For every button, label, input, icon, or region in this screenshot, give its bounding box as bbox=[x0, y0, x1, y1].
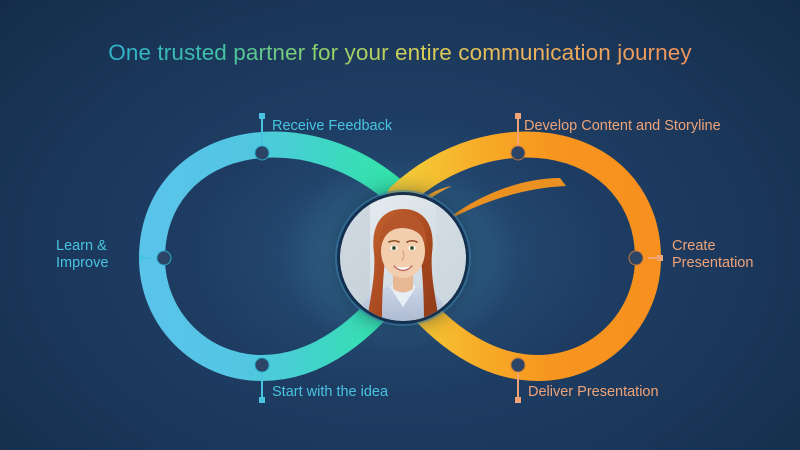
center-portrait-avatar[interactable] bbox=[337, 192, 469, 324]
portrait-illustration bbox=[340, 195, 466, 321]
connector-cap bbox=[259, 397, 265, 403]
label-receive-feedback: Receive Feedback bbox=[272, 118, 392, 135]
connector-cap bbox=[515, 113, 521, 119]
label-learn-improve-line1: Learn & bbox=[56, 238, 107, 254]
label-deliver-presentation: Deliver Presentation bbox=[528, 384, 659, 401]
slide-canvas: One trusted partner for your entire comm… bbox=[0, 0, 800, 450]
node-dot-learn-improve[interactable] bbox=[157, 251, 171, 265]
label-develop-content: Develop Content and Storyline bbox=[524, 118, 721, 135]
node-dot-develop-content[interactable] bbox=[511, 146, 525, 160]
label-learn-improve-line2: Improve bbox=[56, 255, 108, 271]
label-create-presentation-line2: Presentation bbox=[672, 255, 753, 271]
node-dot-receive-feedback[interactable] bbox=[255, 146, 269, 160]
label-start-with-idea: Start with the idea bbox=[272, 384, 388, 401]
node-dot-create-presentation[interactable] bbox=[629, 251, 643, 265]
connector-deliver-presentation bbox=[511, 358, 525, 403]
label-create-presentation: Create Presentation bbox=[672, 238, 792, 272]
node-dot-start-with-idea[interactable] bbox=[255, 358, 269, 372]
connector-cap bbox=[259, 113, 265, 119]
connector-cap bbox=[515, 397, 521, 403]
label-create-presentation-line1: Create bbox=[672, 238, 716, 254]
node-dot-deliver-presentation[interactable] bbox=[511, 358, 525, 372]
label-learn-improve: Learn & Improve bbox=[56, 238, 146, 272]
connector-cap bbox=[657, 255, 663, 261]
